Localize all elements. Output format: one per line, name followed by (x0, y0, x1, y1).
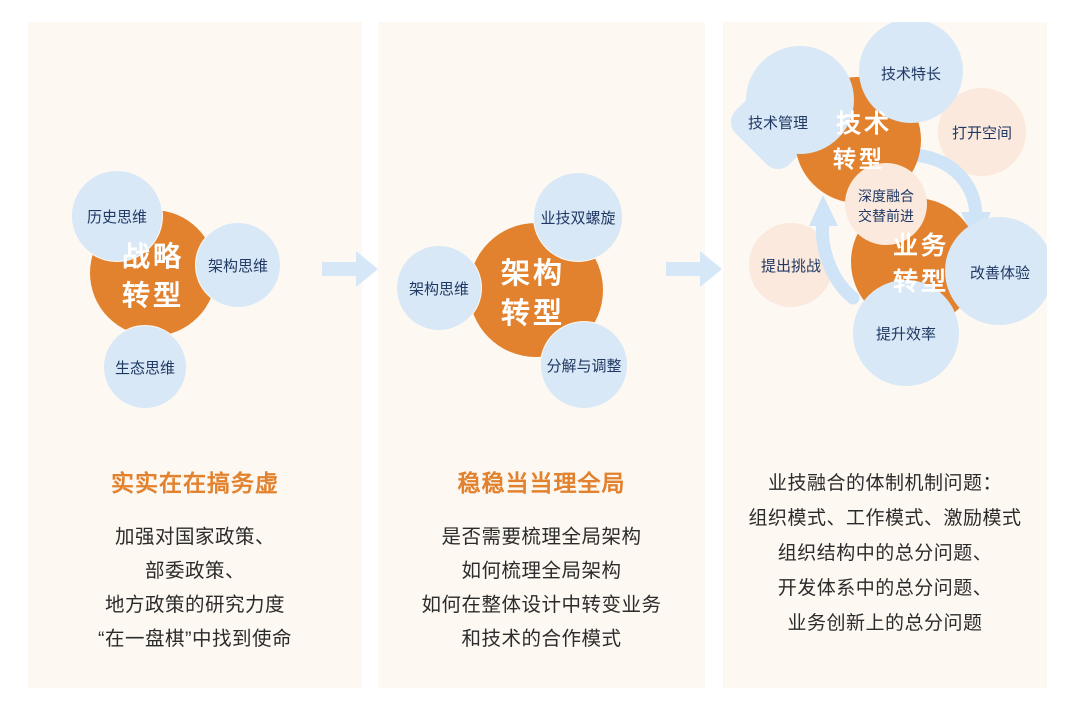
body-line-2: 组织结构中的总分问题、 (723, 536, 1047, 571)
satellite-label-open-space: 打开空间 (952, 125, 1012, 142)
body-line-4: 业务创新上的总分问题 (723, 606, 1047, 641)
strategy-graphic: 历史思维 架构思维 生态思维 战略 转型 (28, 22, 362, 452)
satellite-label-1: 架构思维 (409, 281, 469, 298)
body-line-0: 加强对国家政策、 (28, 520, 362, 554)
body-line-1: 如何梳理全局架构 (378, 554, 705, 588)
satellite-label-2: 生态思维 (115, 360, 175, 377)
headline: 实实在在搞务虚 (28, 470, 362, 498)
satellite-label-tech-management: 技术管理 (748, 115, 808, 132)
body-line-1: 组织模式、工作模式、激励模式 (723, 501, 1047, 536)
architecture-text-block: 稳稳当当理全局 是否需要梳理全局架构 如何梳理全局架构 如何在整体设计中转变业务… (378, 470, 705, 656)
core-label-line2: 转型 (122, 280, 184, 311)
satellite-label-1: 架构思维 (208, 258, 268, 275)
satellite-label-0: 历史思维 (87, 209, 147, 226)
center-note-line2: 交替前进 (858, 208, 914, 224)
core-label-line2: 转型 (501, 297, 565, 330)
satellite-label-tech-speciality: 技术特长 (881, 66, 941, 83)
body-line-0: 是否需要梳理全局架构 (378, 520, 705, 554)
satellite-label-raise-challenge: 提出挑战 (761, 258, 821, 275)
core-tech-label-line1: 技术 (836, 110, 892, 138)
core-label-line1: 战略 (122, 241, 184, 272)
panel-strategy-transformation: 历史思维 架构思维 生态思维 战略 转型 实实在在搞务虚 加强对国家政策、 部委… (28, 22, 362, 688)
fusion-graphic: 技术管理 技术特长 打开空间 改善体验 提升效率 提出挑战 深度融合 交替前进 … (723, 22, 1047, 452)
panel-business-tech-fusion: 技术管理 技术特长 打开空间 改善体验 提升效率 提出挑战 深度融合 交替前进 … (723, 22, 1047, 688)
strategy-text-block: 实实在在搞务虚 加强对国家政策、 部委政策、 地方政策的研究力度 “在一盘棋”中… (28, 470, 362, 656)
arrow-panel1-to-panel2 (322, 248, 380, 290)
body-line-3: 开发体系中的总分问题、 (723, 571, 1047, 606)
satellite-label-improve-experience: 改善体验 (970, 265, 1030, 282)
core-business-label-line2: 转型 (893, 267, 949, 296)
headline: 稳稳当当理全局 (378, 470, 705, 498)
center-note-line1: 深度融合 (858, 188, 914, 204)
body-line-0: 业技融合的体制机制问题： (723, 466, 1047, 501)
architecture-graphic: 业技双螺旋 架构思维 分解与调整 架构 转型 (378, 22, 705, 452)
body-line-2: 如何在整体设计中转变业务 (378, 588, 705, 622)
body-line-2: 地方政策的研究力度 (28, 588, 362, 622)
body-line-1: 部委政策、 (28, 554, 362, 588)
core-business-label-line1: 业务 (893, 232, 949, 260)
body-line-3: 和技术的合作模式 (378, 622, 705, 656)
satellite-label-improve-efficiency: 提升效率 (876, 326, 936, 343)
satellite-label-2: 分解与调整 (546, 358, 621, 375)
satellite-label-0: 业技双螺旋 (540, 210, 615, 227)
panel-architecture-transformation: 业技双螺旋 架构思维 分解与调整 架构 转型 稳稳当当理全局 是否需要梳理全局架… (378, 22, 705, 688)
diagram-canvas: 历史思维 架构思维 生态思维 战略 转型 实实在在搞务虚 加强对国家政策、 部委… (0, 0, 1080, 709)
core-tech-label-line2: 转型 (833, 146, 885, 172)
arrow-panel2-to-panel3 (666, 248, 724, 290)
body-line-3: “在一盘棋”中找到使命 (28, 622, 362, 656)
core-label-line1: 架构 (501, 257, 565, 290)
fusion-text-block: 业技融合的体制机制问题： 组织模式、工作模式、激励模式 组织结构中的总分问题、 … (723, 466, 1047, 641)
